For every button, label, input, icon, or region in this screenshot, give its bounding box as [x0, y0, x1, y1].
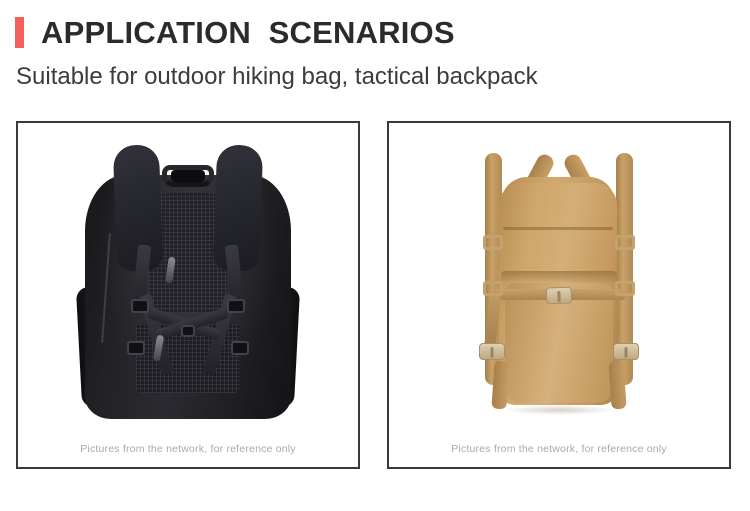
image-panel-left[interactable]: Pictures from the network, for reference… [16, 121, 360, 469]
tan-d-ring-upper-right [615, 235, 635, 250]
panel-caption-left: Pictures from the network, for reference… [18, 443, 358, 455]
tan-backpack-ground-shadow [503, 405, 615, 415]
image-panel-group: Pictures from the network, for reference… [0, 121, 750, 471]
backpack-buckle-lower-right [231, 341, 249, 355]
backpack-handle-core [171, 170, 205, 182]
tan-d-ring-lower-right [615, 281, 635, 296]
tan-buckle-bottom-left [479, 343, 505, 360]
red-accent-bar-icon [15, 17, 24, 48]
backpack-buckle-upper-right [227, 299, 245, 313]
product-image-black-backpack [18, 123, 358, 425]
title-row: APPLICATION SCENARIOS [15, 17, 455, 48]
page-title: APPLICATION SCENARIOS [41, 17, 455, 48]
tan-buckle-bottom-right [613, 343, 639, 360]
product-image-tan-backpack [389, 123, 729, 425]
image-panel-right[interactable]: Pictures from the network, for reference… [387, 121, 731, 469]
tan-backpack-seam [503, 227, 613, 230]
tan-backpack-mid-shadow [501, 271, 617, 283]
panel-caption-right: Pictures from the network, for reference… [389, 443, 729, 455]
backpack-buckle-center [181, 325, 195, 337]
tan-d-ring-lower-left [483, 281, 503, 296]
page-subtitle: Suitable for outdoor hiking bag, tactica… [16, 62, 538, 92]
backpack-buckle-lower-left [127, 341, 145, 355]
black-backpack-illustration [79, 137, 297, 419]
tan-backpack-illustration [459, 139, 659, 417]
backpack-buckle-upper-left [131, 299, 149, 313]
tan-d-ring-upper-left [483, 235, 503, 250]
tan-buckle-center [546, 287, 573, 305]
